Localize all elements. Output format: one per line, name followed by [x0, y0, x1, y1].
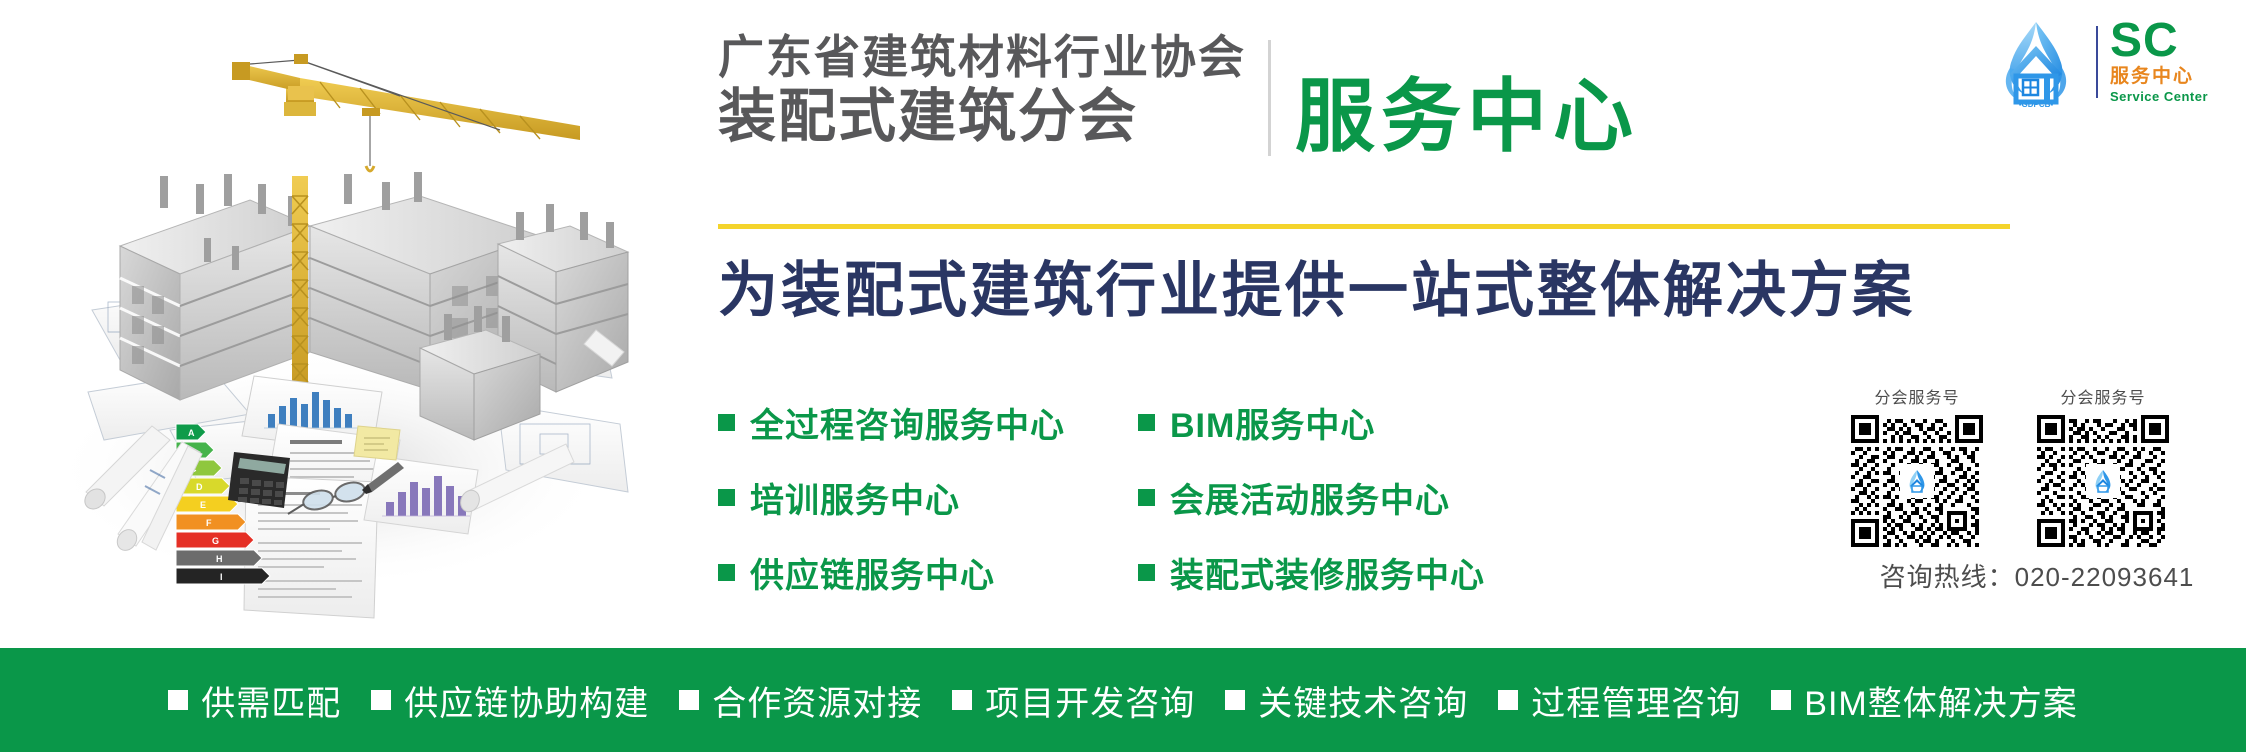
association-name-line2: 装配式建筑分会	[718, 88, 1246, 146]
square-bullet-icon	[718, 564, 735, 581]
service-item-training[interactable]: 培训服务中心	[718, 473, 1138, 522]
footer-item-label: 过程管理咨询	[1531, 676, 1741, 725]
title-vertical-divider	[1268, 40, 1271, 156]
footer-item-project-development-consulting[interactable]: 项目开发咨询	[952, 676, 1195, 725]
hotline-text: 咨询热线：020-22093641	[1836, 557, 2232, 594]
footer-item-supply-demand-matching[interactable]: 供需匹配	[168, 676, 341, 725]
qr-code-image-2[interactable]	[2037, 415, 2169, 547]
service-item-label: 供应链服务中心	[750, 548, 995, 597]
square-bullet-icon	[168, 690, 188, 710]
footer-item-label: 关键技术咨询	[1258, 676, 1468, 725]
service-item-label: 装配式装修服务中心	[1170, 548, 1485, 597]
svg-text:E: E	[200, 500, 206, 510]
association-name-line1: 广东省建筑材料行业协会	[718, 34, 1246, 80]
service-list-right: BIM服务中心 会展活动服务中心 装配式装修服务中心	[1138, 398, 1698, 597]
svg-text:-GDPCB-: -GDPCB-	[2019, 100, 2054, 108]
promo-banner: ABC DEF GHI	[0, 0, 2246, 752]
brand-logo: -GDPCB- SC 服务中心 Service Center	[1988, 14, 2236, 110]
service-item-label: 全过程咨询服务中心	[750, 398, 1065, 447]
square-bullet-icon	[1498, 690, 1518, 710]
square-bullet-icon	[1138, 414, 1155, 431]
square-bullet-icon	[952, 690, 972, 710]
service-item-bim[interactable]: BIM服务中心	[1138, 398, 1698, 447]
header-title-block: 广东省建筑材料行业协会 装配式建筑分会 服务中心	[718, 34, 2018, 184]
svg-text:G: G	[212, 536, 219, 546]
square-bullet-icon	[371, 690, 391, 710]
qr-item-2: 分会服务号	[2022, 384, 2184, 547]
service-item-exhibition-events[interactable]: 会展活动服务中心	[1138, 473, 1698, 522]
logo-wordmark: SC 服务中心 Service Center	[2110, 19, 2208, 105]
qr-row: 分会服务号	[1836, 384, 2232, 547]
service-list-left: 全过程咨询服务中心 培训服务中心 供应链服务中心	[718, 398, 1138, 597]
footer-item-label: BIM整体解决方案	[1804, 676, 2077, 725]
logo-sc-text: SC	[2110, 19, 2208, 63]
service-item-label: 会展活动服务中心	[1170, 473, 1450, 522]
footer-item-partner-resource-matching[interactable]: 合作资源对接	[679, 676, 922, 725]
qr-caption: 分会服务号	[2060, 384, 2145, 408]
footer-item-key-technology-consulting[interactable]: 关键技术咨询	[1225, 676, 1468, 725]
association-name: 广东省建筑材料行业协会 装配式建筑分会	[718, 34, 1268, 146]
footer-item-process-management-consulting[interactable]: 过程管理咨询	[1498, 676, 1741, 725]
qr-contact-block: 分会服务号	[1836, 384, 2232, 594]
page-headline: 为装配式建筑行业提供一站式整体解决方案	[718, 258, 2018, 324]
footer-service-bar: 供需匹配 供应链协助构建 合作资源对接 项目开发咨询 关键技术咨询 过程管理咨询…	[0, 648, 2246, 752]
square-bullet-icon	[1138, 489, 1155, 506]
square-bullet-icon	[1771, 690, 1791, 710]
qr-center-logo	[1900, 464, 1934, 498]
svg-text:D: D	[196, 482, 203, 492]
qr-item-1: 分会服务号	[1836, 384, 1998, 547]
svg-text:I: I	[220, 572, 223, 582]
svg-text:H: H	[216, 554, 223, 564]
service-center-lists: 全过程咨询服务中心 培训服务中心 供应链服务中心 BIM服务中心 会展活动服务中…	[718, 398, 1798, 597]
construction-illustration: ABC DEF GHI	[0, 0, 640, 640]
qr-caption: 分会服务号	[1874, 384, 1959, 408]
footer-item-bim-total-solution[interactable]: BIM整体解决方案	[1771, 676, 2077, 725]
logo-chinese-text: 服务中心	[2110, 65, 2208, 89]
service-item-label: 培训服务中心	[750, 473, 960, 522]
footer-item-label: 供需匹配	[201, 676, 341, 725]
service-item-full-process-consulting[interactable]: 全过程咨询服务中心	[718, 398, 1138, 447]
square-bullet-icon	[1138, 564, 1155, 581]
logo-vertical-divider	[2096, 26, 2098, 98]
service-item-prefab-decoration[interactable]: 装配式装修服务中心	[1138, 548, 1698, 597]
service-center-heading: 服务中心	[1295, 75, 1639, 159]
svg-text:F: F	[206, 518, 212, 528]
logo-english-text: Service Center	[2110, 89, 2208, 105]
footer-item-label: 项目开发咨询	[985, 676, 1195, 725]
square-bullet-icon	[679, 690, 699, 710]
square-bullet-icon	[718, 414, 735, 431]
square-bullet-icon	[1225, 690, 1245, 710]
svg-text:A: A	[188, 428, 195, 438]
yellow-divider-rule	[718, 224, 2010, 229]
footer-item-label: 供应链协助构建	[404, 676, 649, 725]
qr-code-image-1[interactable]	[1851, 415, 1983, 547]
gdpcb-house-flame-icon: -GDPCB-	[1988, 16, 2084, 108]
square-bullet-icon	[718, 489, 735, 506]
service-item-label: BIM服务中心	[1170, 398, 1375, 447]
footer-item-supply-chain-build[interactable]: 供应链协助构建	[371, 676, 649, 725]
service-item-supply-chain[interactable]: 供应链服务中心	[718, 548, 1138, 597]
qr-center-logo	[2086, 464, 2120, 498]
footer-item-label: 合作资源对接	[712, 676, 922, 725]
